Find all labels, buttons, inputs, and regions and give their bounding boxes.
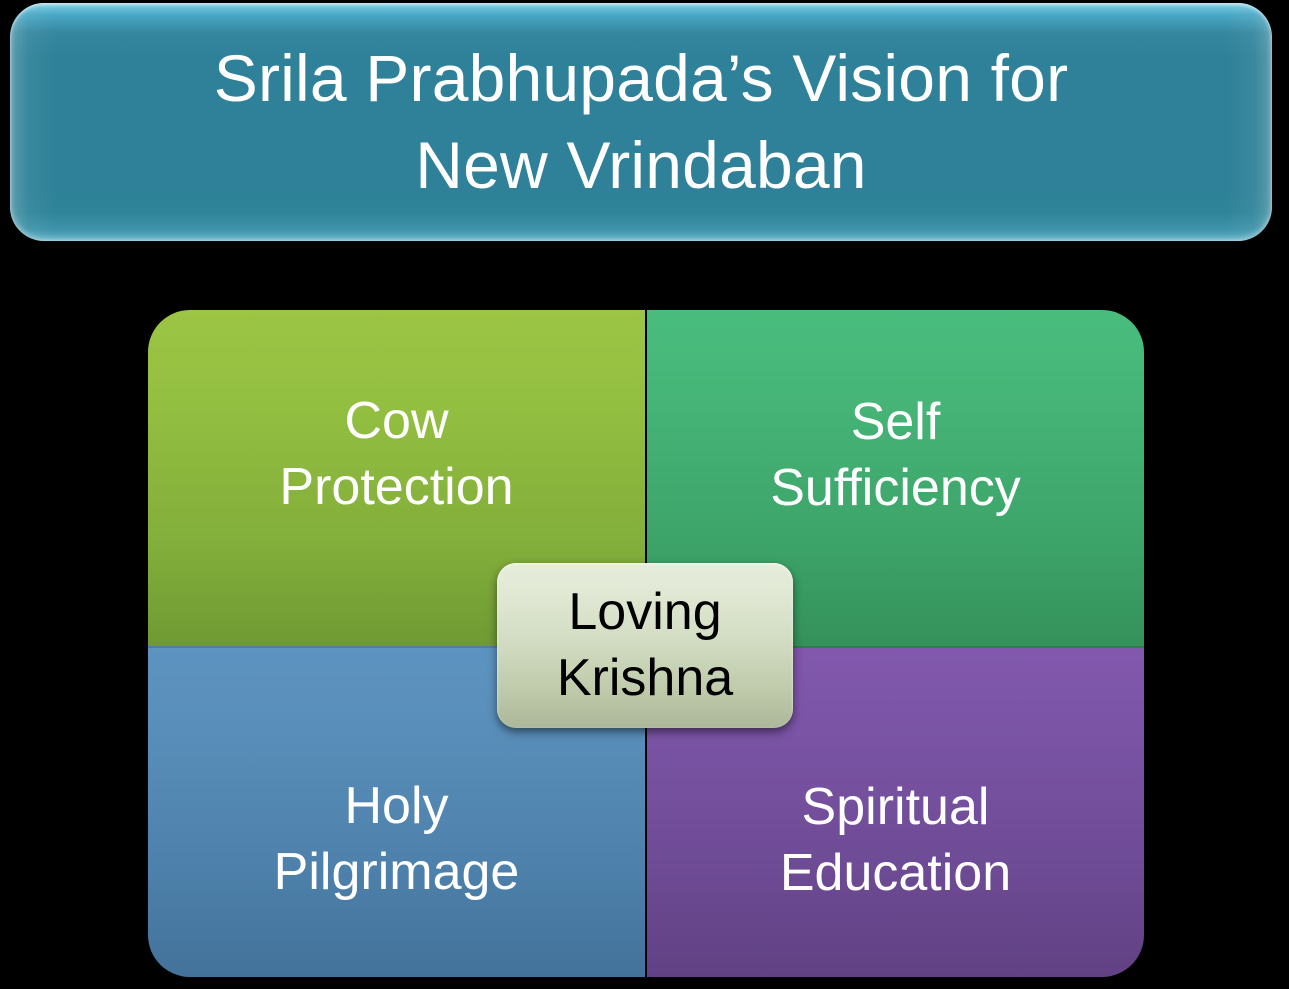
quadrant-label-cow-protection: Cow Protection [279,389,513,520]
quadrant-label-self-sufficiency: Self Sufficiency [770,390,1021,521]
page-title: Srila Prabhupada’s Vision for New Vrinda… [214,35,1069,209]
quadrant-label-spiritual-education: Spiritual Education [780,775,1011,906]
center-hub-loving-krishna[interactable]: Loving Krishna [497,563,793,728]
center-hub-label: Loving Krishna [557,580,733,711]
quadrant-label-holy-pilgrimage: Holy Pilgrimage [274,774,520,905]
title-banner: Srila Prabhupada’s Vision for New Vrinda… [10,3,1272,241]
